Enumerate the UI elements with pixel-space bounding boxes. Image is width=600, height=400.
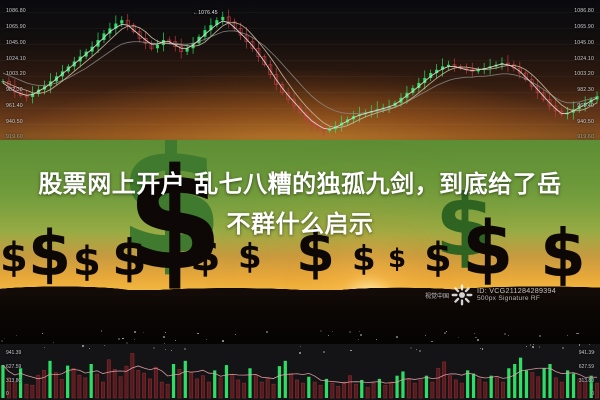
- starburst-icon: [451, 284, 473, 306]
- dollar-sign-icon-dark-2: $: [73, 244, 101, 280]
- dollar-sign-icon-dark-9: $: [424, 240, 452, 276]
- banner-image: ←1076.45 1086.80 1065.90 1045.00 1024.10…: [0, 0, 600, 400]
- dollar-sign-icon-dark-3: $: [112, 236, 147, 281]
- price-annotation: ←1076.45: [193, 10, 218, 16]
- dollar-sign-icon-dark-4: $: [190, 236, 221, 276]
- dollar-sign-icon-dark-11: $: [540, 224, 586, 283]
- watermark-brand-label: 视觉中国: [425, 291, 449, 300]
- dollar-sign-icon-dark-7: $: [352, 244, 376, 275]
- watermark-text: ID: VCG211284289394 500px Signature RF: [477, 287, 556, 303]
- candlestick-series: [0, 0, 600, 148]
- volume-bar-series: [0, 344, 600, 400]
- price-annotation-value: 1076.45: [198, 10, 217, 16]
- dollar-sign-icon-dark-6: $: [296, 228, 335, 278]
- dollar-sign-icon-dark-5: $: [238, 242, 262, 273]
- watermark: 视觉中国 ID: VCG2: [425, 284, 556, 306]
- sunset-landscape-scene: $ $ $ $ $ $ $ $ $ $ $ $ $ $ $: [0, 140, 600, 348]
- price-chart-panel: ←1076.45 1086.80 1065.90 1045.00 1024.10…: [0, 0, 600, 148]
- volume-chart-panel: 941.39 627.59 313.80 0 941.39 627.59 313…: [0, 344, 600, 400]
- dollar-sign-icon-dark-8: $: [388, 248, 406, 271]
- dollar-sign-icon-dark-12: $: [0, 240, 28, 276]
- watermark-logo: 视觉中国: [425, 284, 473, 306]
- dollar-sign-icon-dark-10: $: [462, 216, 514, 283]
- dollar-sign-icon-dark-1: $: [28, 226, 71, 282]
- watermark-license: 500px Signature RF: [477, 295, 556, 303]
